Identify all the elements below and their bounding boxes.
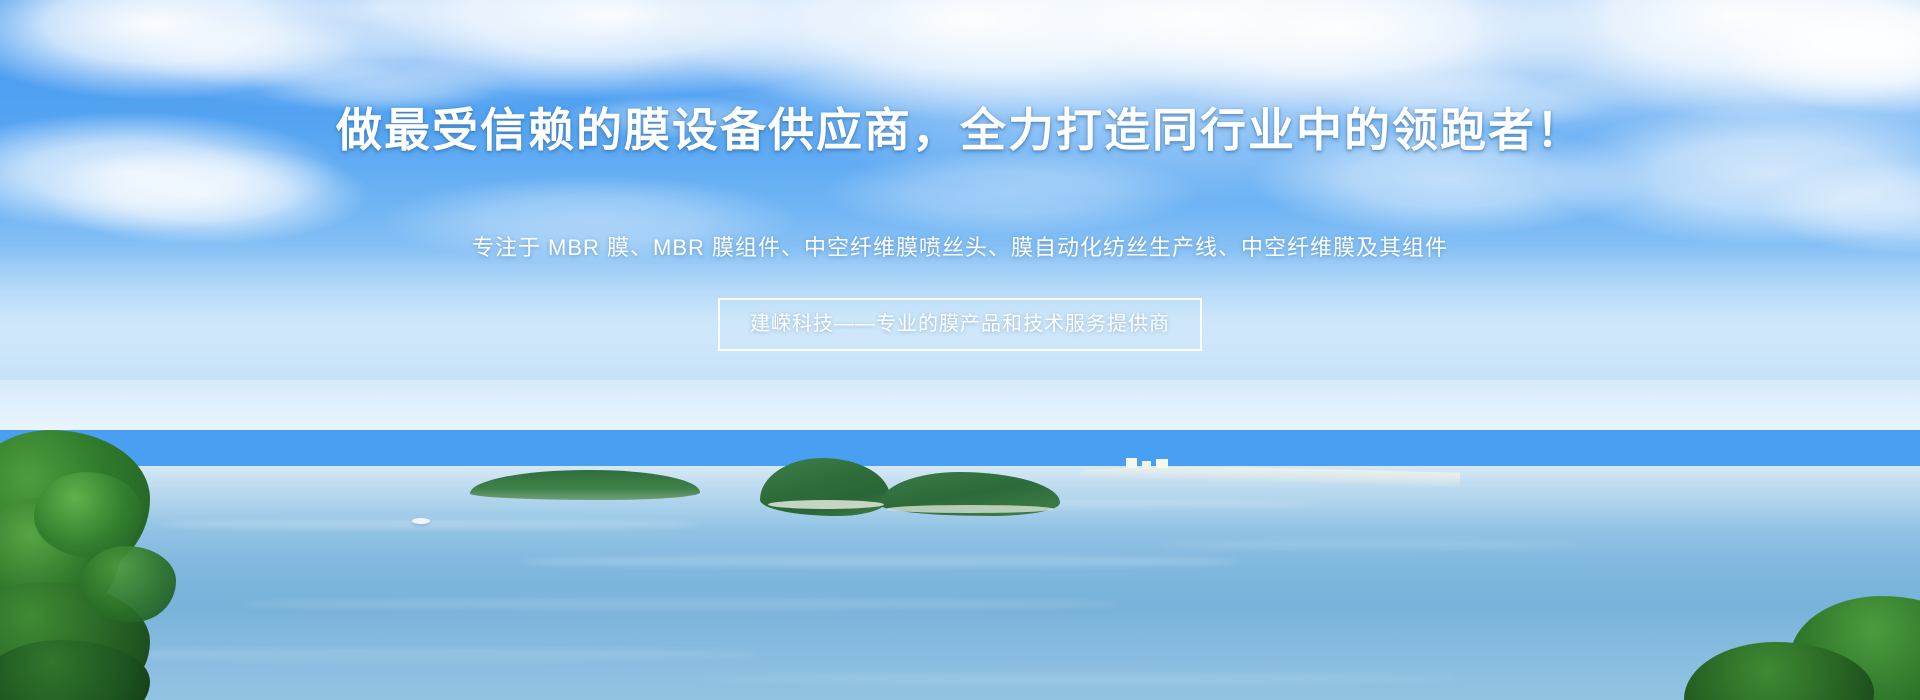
banner-headline: 做最受信赖的膜设备供应商，全力打造同行业中的领跑者！: [0, 102, 1920, 158]
banner-subtitle: 专注于 MBR 膜、MBR 膜组件、中空纤维膜喷丝头、膜自动化纺丝生产线、中空纤…: [0, 232, 1920, 264]
hero-banner: '); mask-image: url('data:image/svg+xml;…: [0, 0, 1920, 700]
banner-tagline-container: 建嵘科技——专业的膜产品和技术服务提供商: [0, 298, 1920, 351]
banner-tagline: 建嵘科技——专业的膜产品和技术服务提供商: [718, 298, 1202, 351]
banner-text-overlay: 做最受信赖的膜设备供应商，全力打造同行业中的领跑者！ 专注于 MBR 膜、MBR…: [0, 0, 1920, 700]
